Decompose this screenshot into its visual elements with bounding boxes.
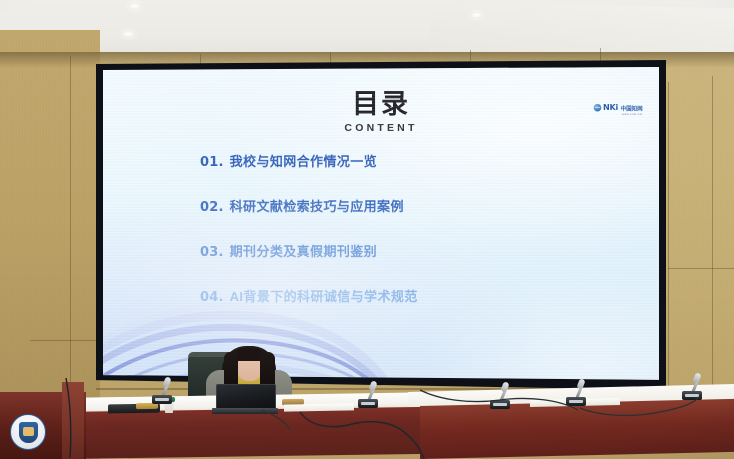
- toc-item-number: 03.: [200, 246, 224, 259]
- toc-item-number: 02.: [200, 201, 224, 214]
- conference-room-photo: 目录 CONTENT NKi 中国知网 www.cnki.net 01. 我校与…: [0, 0, 734, 459]
- cnki-logo-latin: NKi: [603, 103, 618, 112]
- slide-table-of-contents: 01. 我校与知网合作情况一览 02. 科研文献检索技巧与应用案例 03. 期刊…: [200, 155, 619, 335]
- cnki-logo-url: www.cnki.net: [622, 112, 643, 115]
- toc-item-number: 04.: [200, 291, 224, 304]
- toc-item-label: AI背景下的科研诚信与学术规范: [230, 290, 418, 303]
- wall-seam: [668, 82, 669, 412]
- toc-item-label: 期刊分类及真假期刊鉴别: [230, 245, 377, 258]
- ceiling-downlight: [122, 31, 135, 37]
- toc-item-label: 我校与知网合作情况一览: [230, 155, 377, 168]
- globe-icon: [594, 104, 602, 112]
- cnki-logo-chinese: 中国知网: [621, 103, 643, 112]
- cnki-logo: NKi 中国知网 www.cnki.net: [594, 103, 643, 112]
- ceiling-downlight: [128, 3, 141, 9]
- toc-item: 02. 科研文献检索技巧与应用案例: [200, 200, 619, 214]
- wall-seam: [330, 52, 331, 64]
- toc-item: 03. 期刊分类及真假期刊鉴别: [200, 245, 619, 259]
- ceiling-downlight: [470, 12, 483, 18]
- wall-seam: [30, 340, 100, 341]
- desk-cables: [0, 370, 734, 459]
- slide-content: 目录 CONTENT NKi 中国知网 www.cnki.net 01. 我校与…: [103, 67, 659, 383]
- slide-heading-block: 目录 CONTENT: [103, 91, 659, 134]
- toc-item: 01. 我校与知网合作情况一览: [200, 155, 619, 169]
- toc-item: 04. AI背景下的科研诚信与学术规范: [200, 290, 619, 304]
- wall-seam: [668, 268, 734, 269]
- slide-title: 目录: [103, 91, 659, 118]
- wall-seam: [712, 76, 713, 412]
- toc-item-number: 01.: [200, 156, 224, 169]
- slide-subtitle: CONTENT: [103, 122, 659, 134]
- toc-item-label: 科研文献检索技巧与应用案例: [230, 200, 404, 213]
- projection-screen: 目录 CONTENT NKi 中国知网 www.cnki.net 01. 我校与…: [103, 67, 659, 383]
